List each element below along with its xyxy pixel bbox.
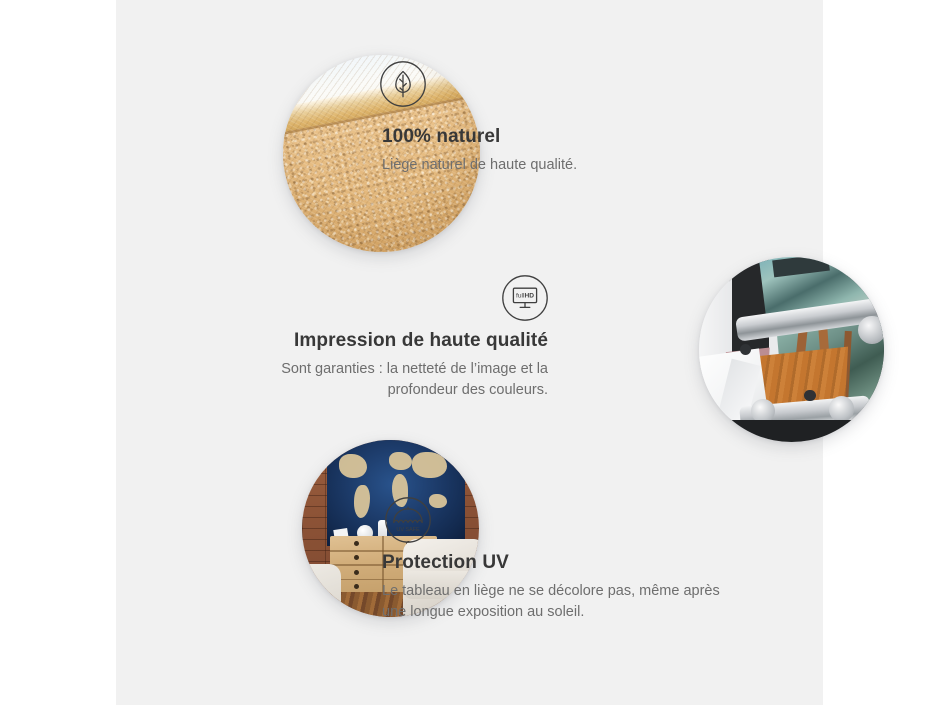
uv-safe-umbrella-icon: UV SAFE [384,496,432,544]
feature-print-quality-text: Impression de haute qualité Sont garanti… [240,330,548,402]
feature-natural-title: 100% naturel [382,126,712,148]
content-panel: 100% naturel Liège naturel de haute qual… [116,0,823,705]
svg-text:UV SAFE: UV SAFE [396,527,420,533]
feature-uv-protection-title: Protection UV [382,552,732,574]
feature-uv-protection-description: Le tableau en liège ne se décolore pas, … [382,581,732,624]
feature-natural-text: 100% naturel Liège naturel de haute qual… [382,126,712,176]
feature-print-quality-description: Sont garanties : la netteté de l’image e… [240,359,548,402]
svg-text:fullHD: fullHD [516,293,534,300]
feature-print-quality-title: Impression de haute qualité [240,330,548,352]
feature-natural-description: Liège naturel de haute qualité. [382,155,712,176]
leaf-icon [379,60,427,108]
feature-uv-protection-text: Protection UV Le tableau en liège ne se … [382,552,732,624]
printing-machine-photo [699,257,884,442]
fullhd-monitor-icon: fullHD [501,274,549,322]
